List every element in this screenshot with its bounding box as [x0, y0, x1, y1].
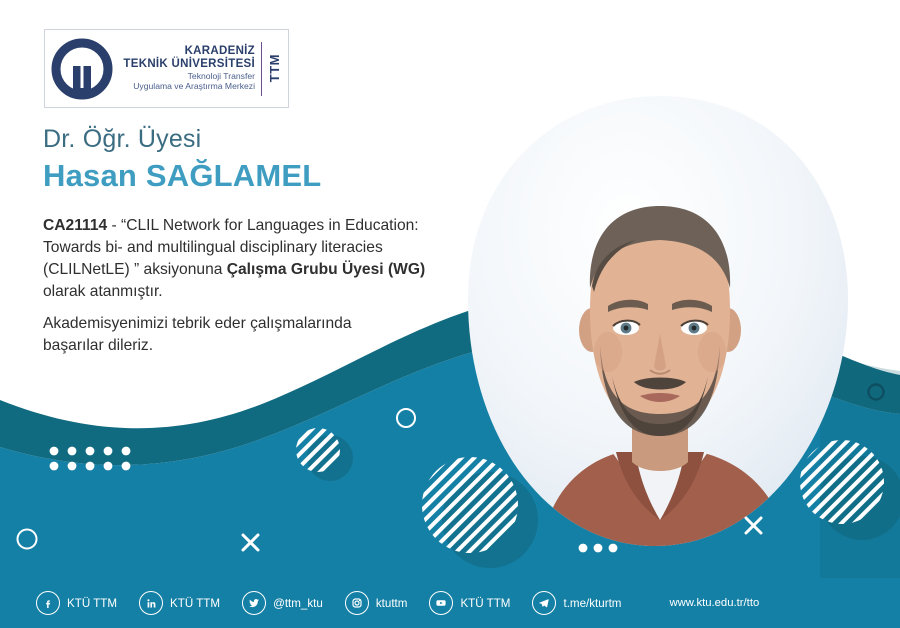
- social-link-facebook[interactable]: KTÜ TTM: [36, 591, 117, 615]
- instagram-icon: [345, 591, 369, 615]
- twitter-icon: [242, 591, 266, 615]
- social-footer-bar: KTÜ TTM KTÜ TTM @ttm_ktu: [0, 578, 900, 628]
- twitter-label: @ttm_ktu: [273, 597, 323, 610]
- logo-line-3: Teknoloji Transfer: [113, 72, 255, 82]
- decor-striped-circle-2: [422, 457, 518, 553]
- youtube-icon: [429, 591, 453, 615]
- logo-line-4: Uygulama ve Araştırma Merkezi: [113, 82, 255, 92]
- facebook-icon: [36, 591, 60, 615]
- logo-divider: [261, 42, 262, 96]
- person-name: Hasan SAĞLAMEL: [43, 158, 321, 194]
- social-link-twitter[interactable]: @ttm_ktu: [242, 591, 323, 615]
- social-link-instagram[interactable]: ktuttm: [345, 591, 408, 615]
- telegram-label: t.me/kturtm: [563, 597, 621, 610]
- decor-striped-circle-3: [800, 440, 884, 524]
- logo-ttm-badge: TTM: [267, 54, 282, 82]
- logo-line-1: KARADENİZ: [113, 45, 255, 58]
- telegram-icon: [532, 591, 556, 615]
- linkedin-label: KTÜ TTM: [170, 597, 220, 610]
- logo-line-2: TEKNİK ÜNİVERSİTESİ: [113, 58, 255, 71]
- decor-three-dots: [579, 544, 618, 553]
- ktu-monogram-icon: [51, 38, 113, 100]
- ktu-ttm-logo: KARADENİZ TEKNİK ÜNİVERSİTESİ Teknoloji …: [44, 29, 289, 108]
- facebook-label: KTÜ TTM: [67, 597, 117, 610]
- instagram-label: ktuttm: [376, 597, 408, 610]
- linkedin-icon: [139, 591, 163, 615]
- youtube-label: KTÜ TTM: [460, 597, 510, 610]
- social-link-telegram[interactable]: t.me/kturtm: [532, 591, 621, 615]
- announcement-paragraph-2: Akademisyenimizi tebrik eder çalışmaları…: [43, 313, 373, 357]
- social-link-youtube[interactable]: KTÜ TTM: [429, 591, 510, 615]
- website-url[interactable]: www.ktu.edu.tr/tto: [669, 597, 759, 609]
- announcement-paragraph-1: CA21114 - “CLIL Network for Languages in…: [43, 215, 463, 304]
- announcement-text-b: olarak atanmıştır.: [43, 283, 163, 300]
- person-role: Dr. Öğr. Üyesi: [43, 125, 201, 154]
- role-assignment: Çalışma Grubu Üyesi (WG): [227, 261, 425, 278]
- announcement-card: KARADENİZ TEKNİK ÜNİVERSİTESİ Teknoloji …: [0, 0, 900, 628]
- decor-striped-circle-1: [296, 428, 340, 472]
- action-code: CA21114: [43, 217, 107, 234]
- social-link-linkedin[interactable]: KTÜ TTM: [139, 591, 220, 615]
- logo-text-block: KARADENİZ TEKNİK ÜNİVERSİTESİ Teknoloji …: [113, 45, 259, 92]
